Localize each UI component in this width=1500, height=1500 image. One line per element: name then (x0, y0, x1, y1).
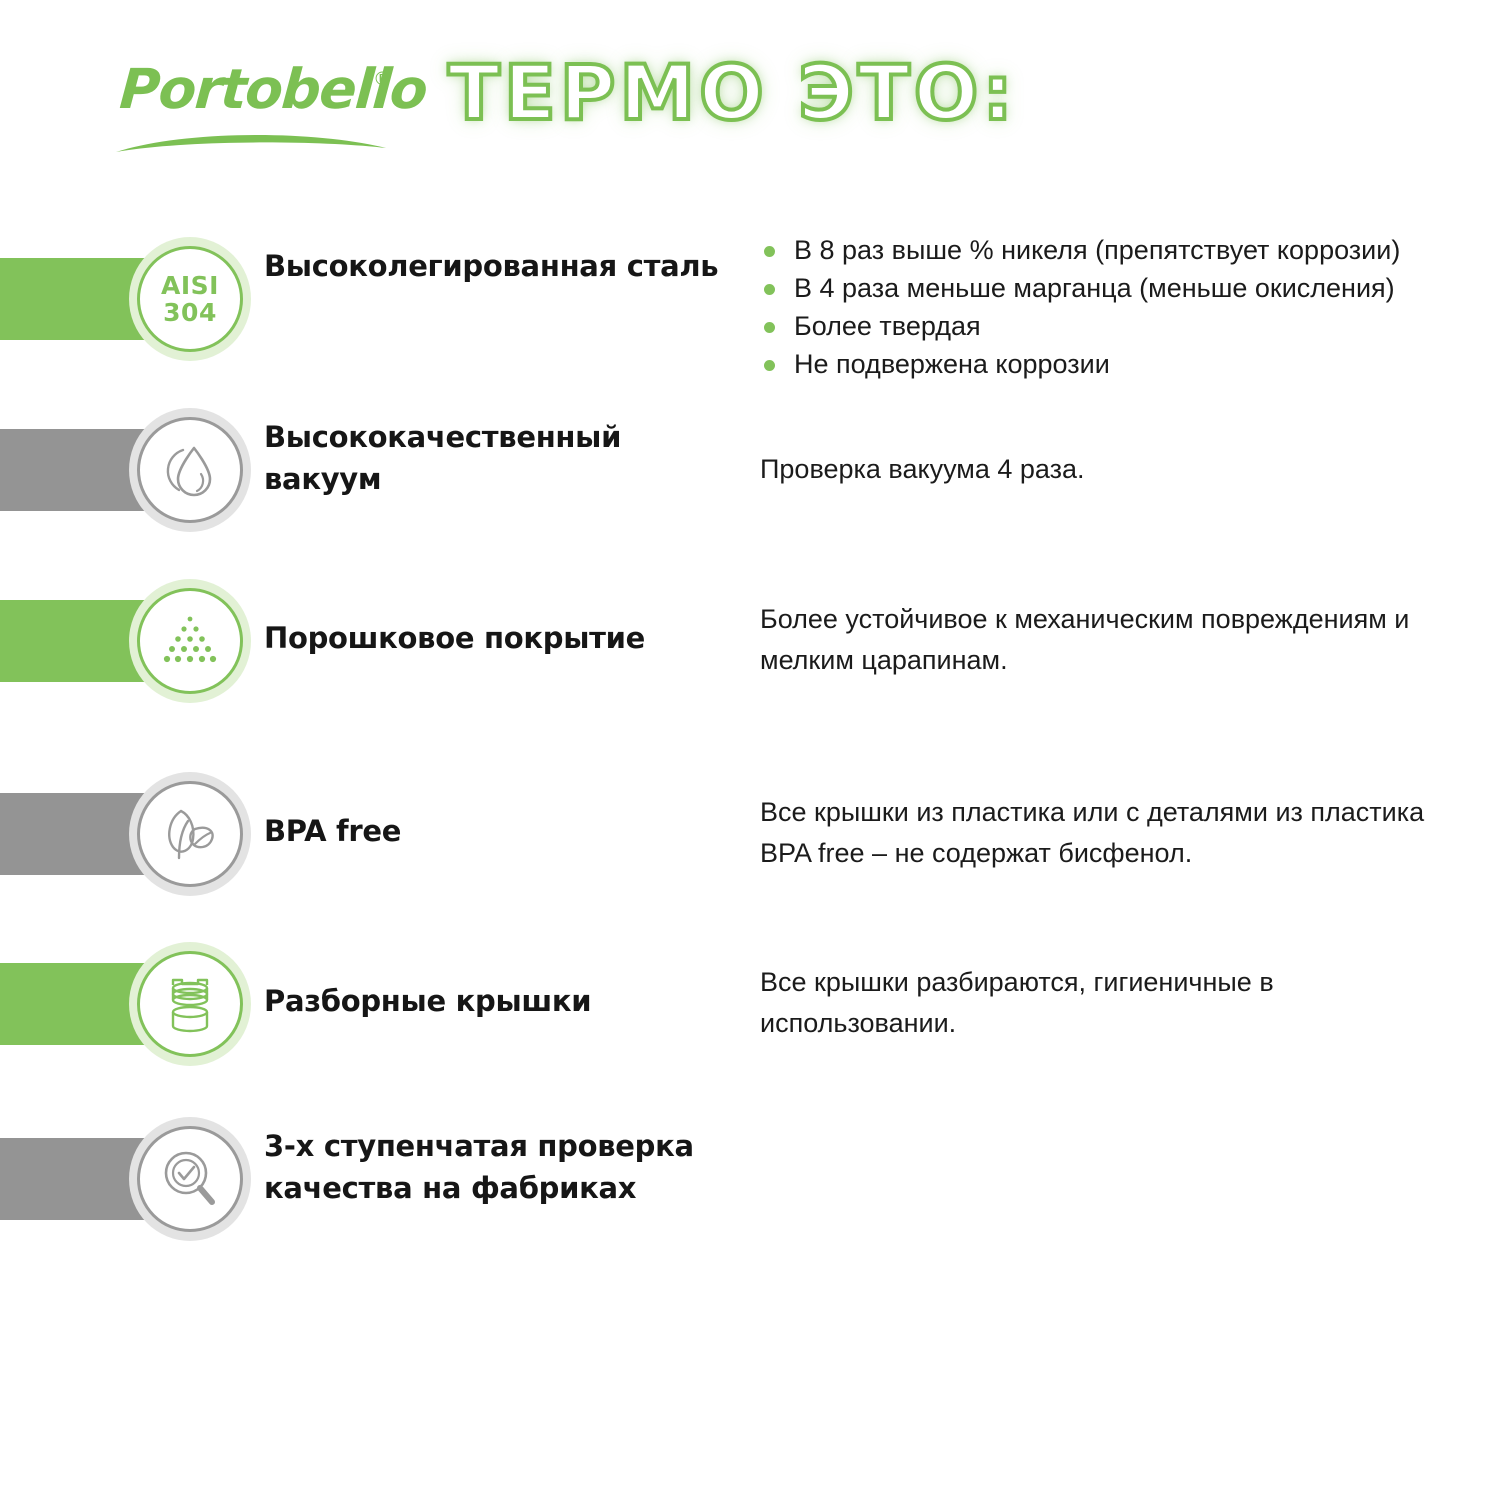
aisi-304-badge-icon: AISI 304 (161, 272, 219, 326)
list-item: Более твердая (760, 307, 1500, 345)
feature-badge (129, 942, 251, 1066)
feature-row-powder: Порошковое покрытие Более устойчивое к м… (0, 571, 1500, 711)
feature-badge (129, 579, 251, 703)
feature-bullet-list: В 8 раз выше % никеля (препятствует корр… (760, 231, 1500, 383)
badge-disc (137, 417, 243, 523)
list-item: В 8 раз выше % никеля (препятствует корр… (760, 231, 1500, 269)
magnifier-check-icon (157, 1147, 223, 1211)
feature-row-lids: Разборные крышки Все крышки разбираются,… (0, 934, 1500, 1074)
feature-badge: AISI 304 (129, 237, 251, 361)
water-drop-icon (158, 438, 222, 502)
container-lid-icon (157, 972, 223, 1036)
feature-row-bpa: BPA free Все крышки из пластика или с де… (0, 764, 1500, 904)
feature-title: Высококачественный вакуум (264, 416, 734, 500)
feature-row-quality: 3-х ступенчатая проверка качества на фаб… (0, 1109, 1500, 1249)
powder-dots-icon (157, 610, 223, 672)
feature-title: Высоколегированная сталь (264, 245, 734, 287)
feature-description: Проверка вакуума 4 раза. (760, 449, 1460, 490)
badge-disc (137, 1126, 243, 1232)
feature-description: Более устойчивое к механическим поврежде… (760, 599, 1460, 681)
list-item: В 4 раза меньше марганца (меньше окислен… (760, 269, 1500, 307)
aisi-grade: 304 (161, 299, 219, 326)
badge-disc (137, 588, 243, 694)
feature-row-steel: AISI 304 Высоколегированная сталь В 8 ра… (0, 229, 1500, 369)
feature-badge (129, 1117, 251, 1241)
leaves-icon (157, 803, 223, 865)
feature-title: BPA free (264, 810, 734, 852)
feature-title: Разборные крышки (264, 980, 734, 1022)
feature-title: Порошковое покрытие (264, 617, 734, 659)
badge-disc (137, 781, 243, 887)
feature-list: AISI 304 Высоколегированная сталь В 8 ра… (0, 0, 1500, 1500)
list-item: Не подвержена коррозии (760, 345, 1500, 383)
aisi-label: AISI (161, 272, 219, 299)
badge-disc (137, 951, 243, 1057)
feature-title: 3-х ступенчатая проверка качества на фаб… (264, 1125, 734, 1209)
badge-disc: AISI 304 (137, 246, 243, 352)
feature-description: Все крышки разбираются, гигиеничные в ис… (760, 962, 1460, 1044)
feature-row-vacuum: Высококачественный вакуум Проверка вакуу… (0, 400, 1500, 540)
feature-badge (129, 408, 251, 532)
feature-badge (129, 772, 251, 896)
feature-description: Все крышки из пластика или с деталями из… (760, 792, 1460, 874)
